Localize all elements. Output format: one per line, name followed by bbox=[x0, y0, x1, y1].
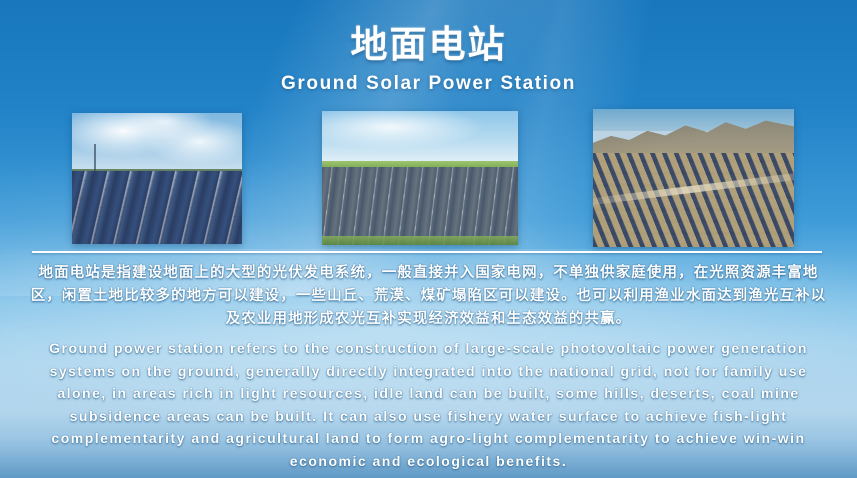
photo-solar-farm-flat-panels bbox=[72, 113, 242, 244]
description-block: 地面电站是指建设地面上的大型的光伏发电系统，一般直接并入国家电网，不单独供家庭使… bbox=[0, 262, 857, 472]
page-title-chinese: 地面电站 bbox=[0, 22, 857, 68]
photo-panel-array-region bbox=[322, 167, 518, 245]
slide-header: 地面电站 Ground Solar Power Station bbox=[0, 22, 857, 96]
photo-panel-array-region bbox=[72, 171, 242, 244]
photo-gallery bbox=[0, 113, 857, 245]
photo-grass-strip bbox=[322, 236, 518, 245]
photo-sky-region bbox=[72, 113, 242, 173]
slide-root: 地面电站 Ground Solar Power Station 地面电站是指 bbox=[0, 0, 857, 478]
photo-sky-region bbox=[322, 111, 518, 165]
page-title-english: Ground Solar Power Station bbox=[0, 72, 857, 96]
photo-access-road bbox=[593, 171, 794, 206]
photo-solar-farm-aerial-rows bbox=[322, 111, 518, 245]
section-divider bbox=[32, 251, 822, 253]
photo-panel-array-region bbox=[593, 153, 794, 247]
description-paragraph-chinese: 地面电站是指建设地面上的大型的光伏发电系统，一般直接并入国家电网，不单独供家庭使… bbox=[26, 262, 831, 331]
description-paragraph-english: Ground power station refers to the const… bbox=[26, 337, 831, 472]
photo-transmission-pole bbox=[94, 144, 96, 173]
photo-solar-farm-hillside-mountains bbox=[593, 109, 794, 247]
